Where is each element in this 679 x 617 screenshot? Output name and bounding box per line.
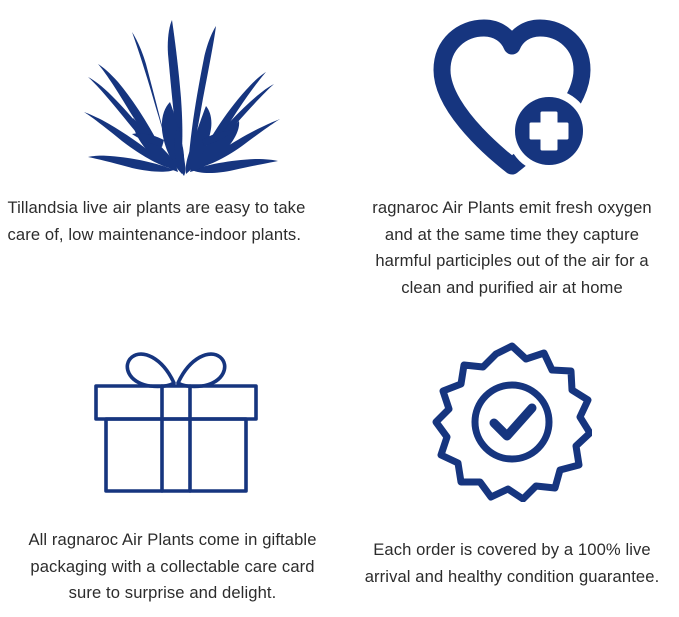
gift-lid bbox=[96, 386, 256, 419]
air-plant-icon-wrap bbox=[0, 0, 345, 178]
gift-box-icon bbox=[86, 335, 266, 500]
feature-card-air-plant: Tillandsia live air plants are easy to t… bbox=[0, 0, 345, 320]
feature-card-air-quality: ragnaroc Air Plants emit fresh oxygen an… bbox=[345, 0, 679, 320]
feature-caption: All ragnaroc Air Plants come in giftable… bbox=[6, 500, 340, 607]
check-icon bbox=[494, 408, 532, 436]
verified-badge-icon bbox=[432, 342, 592, 502]
gift-body bbox=[106, 419, 246, 491]
feature-card-guarantee: Each order is covered by a 100% live arr… bbox=[345, 320, 679, 617]
feature-caption: Each order is covered by a 100% live arr… bbox=[347, 502, 677, 590]
air-plant-icon bbox=[84, 18, 280, 178]
feature-card-gift-packaging: All ragnaroc Air Plants come in giftable… bbox=[0, 320, 345, 617]
feature-caption: ragnaroc Air Plants emit fresh oxygen an… bbox=[347, 176, 677, 301]
feature-grid: Tillandsia live air plants are easy to t… bbox=[0, 0, 679, 617]
badge-circle bbox=[475, 385, 549, 459]
heart-plus-icon bbox=[428, 18, 596, 176]
verified-badge-icon-wrap bbox=[345, 320, 679, 502]
badge-starburst bbox=[436, 346, 590, 499]
bow-right-loop bbox=[178, 354, 225, 386]
heart-plus-icon-wrap bbox=[345, 0, 679, 176]
feature-caption: Tillandsia live air plants are easy to t… bbox=[3, 178, 343, 248]
gift-box-icon-wrap bbox=[0, 320, 345, 500]
bow-left-loop bbox=[127, 354, 174, 386]
